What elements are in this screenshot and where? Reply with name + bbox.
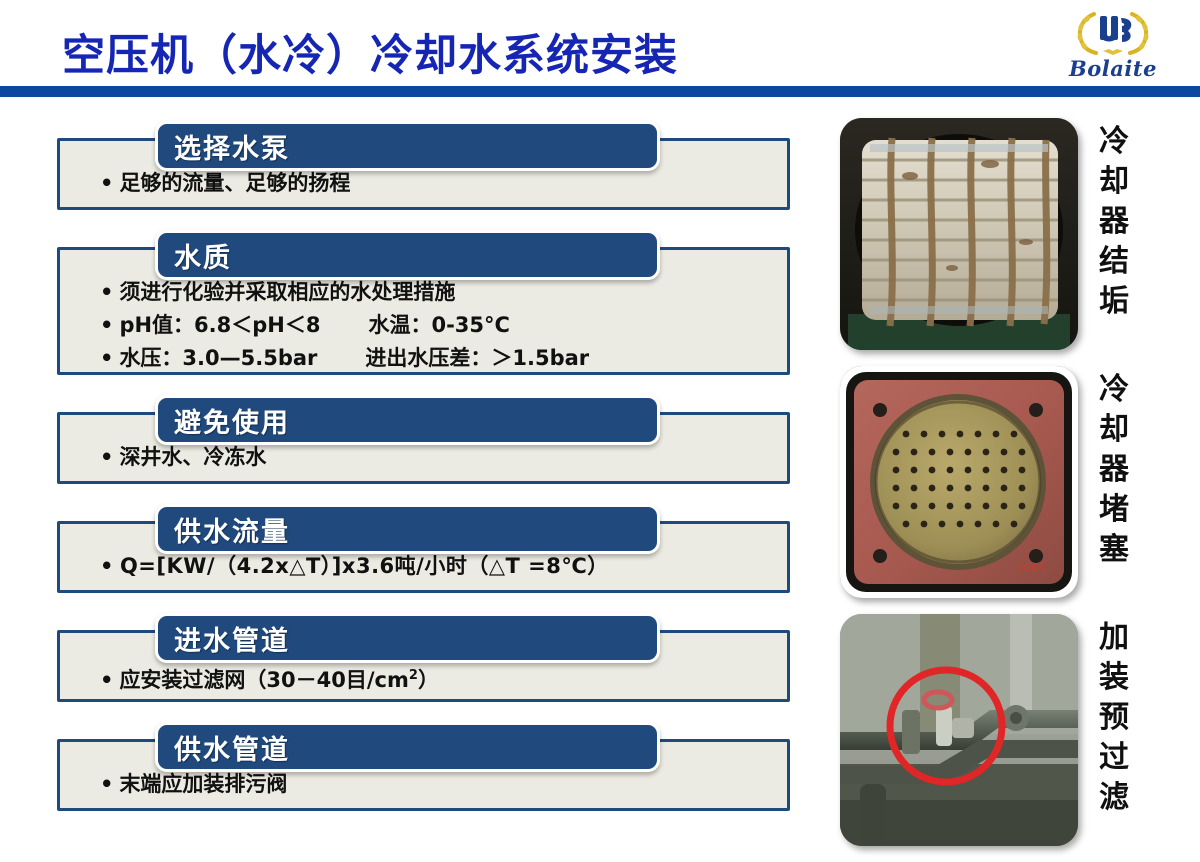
section-header-inlet-pipe[interactable]: 进水管道 <box>155 613 660 663</box>
section-header-label: 进水管道 <box>174 619 290 658</box>
section-body: 进水管道 •应安装过滤网（30－40目/cm2） <box>57 630 790 702</box>
section-header-water-quality[interactable]: 水质 <box>155 230 660 280</box>
section-body: 供水流量 •Q=[KW/（4.2x△T）]x3.6吨/小时（△T =8℃） <box>57 521 790 593</box>
section-body: 供水管道 •末端应加装排污阀 <box>57 739 790 811</box>
svg-text:2001: 2001 <box>1016 561 1047 575</box>
section-body: 水质 •须进行化验并采取相应的水处理措施 •pH值：6.8＜pH＜8水温：0-3… <box>57 247 790 375</box>
section-header-select-pump[interactable]: 选择水泵 <box>155 121 660 171</box>
section-header-label: 选择水泵 <box>174 127 290 166</box>
section-avoid-use: 避免使用 •深井水、冷冻水 <box>0 384 800 484</box>
section-header-label: 供水流量 <box>174 510 290 549</box>
section-header-supply-pipe[interactable]: 供水管道 <box>155 722 660 772</box>
cooler-blockage-image: 2001 <box>840 366 1078 598</box>
title-divider-highlight <box>0 97 1200 99</box>
list-item: •末端应加装排污阀 <box>100 768 787 801</box>
photo-row-blockage: 2001 冷 却 器 堵 塞 <box>832 366 1192 606</box>
list-item: •深井水、冷冻水 <box>100 441 787 474</box>
section-header-avoid-use[interactable]: 避免使用 <box>155 395 660 445</box>
photo-column: 冷 却 器 结 垢 <box>832 118 1192 862</box>
section-supply-flow: 供水流量 •Q=[KW/（4.2x△T）]x3.6吨/小时（△T =8℃） <box>0 493 800 593</box>
pre-filter-install-photo <box>840 614 1078 846</box>
section-inlet-pipe: 进水管道 •应安装过滤网（30－40目/cm2） <box>0 602 800 702</box>
content-sections: 选择水泵 •足够的流量、足够的扬程 水质 •须进行化验并采取相应的水处理措施 <box>0 110 800 820</box>
title-divider-bar <box>0 86 1200 97</box>
section-water-quality: 水质 •须进行化验并采取相应的水处理措施 •pH值：6.8＜pH＜8水温：0-3… <box>0 219 800 375</box>
page-title: 空压机（水冷）冷却水系统安装 <box>62 21 678 83</box>
cooler-blockage-photo: 2001 <box>840 366 1078 598</box>
section-body: 选择水泵 •足够的流量、足够的扬程 <box>57 138 790 210</box>
pre-filter-install-image <box>840 614 1078 846</box>
section-header-label: 供水管道 <box>174 728 290 767</box>
list-item: •pH值：6.8＜pH＜8水温：0-35°C <box>100 309 787 342</box>
cooler-scaling-image <box>840 118 1078 350</box>
photo-caption-blockage: 冷 却 器 堵 塞 <box>1090 370 1138 570</box>
brand-logo: Bolaite <box>1054 4 1172 84</box>
list-item: •足够的流量、足够的扬程 <box>100 167 787 200</box>
section-header-supply-flow[interactable]: 供水流量 <box>155 504 660 554</box>
section-select-pump: 选择水泵 •足够的流量、足够的扬程 <box>0 110 800 210</box>
list-item: •应安装过滤网（30－40目/cm2） <box>100 659 787 697</box>
photo-row-scaling: 冷 却 器 结 垢 <box>832 118 1192 358</box>
photo-caption-prefilter: 加 装 预 过 滤 <box>1090 618 1138 818</box>
slide-root: 空压机（水冷）冷却水系统安装 <box>0 0 1200 858</box>
section-header-label: 避免使用 <box>174 401 290 440</box>
list-item: •水压：3.0—5.5bar进出水压差：＞1.5bar <box>100 342 787 375</box>
section-supply-pipe: 供水管道 •末端应加装排污阀 <box>0 711 800 811</box>
cooler-scaling-photo <box>840 118 1078 350</box>
section-body: 避免使用 •深井水、冷冻水 <box>57 412 790 484</box>
section-header-label: 水质 <box>174 236 232 275</box>
list-item: •须进行化验并采取相应的水处理措施 <box>100 276 787 309</box>
list-item-formula: •Q=[KW/（4.2x△T）]x3.6吨/小时（△T =8℃） <box>100 550 787 583</box>
wreath-monogram-icon <box>1054 4 1172 58</box>
photo-caption-scaling: 冷 却 器 结 垢 <box>1090 122 1138 322</box>
logo-wordmark: Bolaite <box>1054 56 1172 81</box>
photo-row-prefilter: 加 装 预 过 滤 <box>832 614 1192 854</box>
